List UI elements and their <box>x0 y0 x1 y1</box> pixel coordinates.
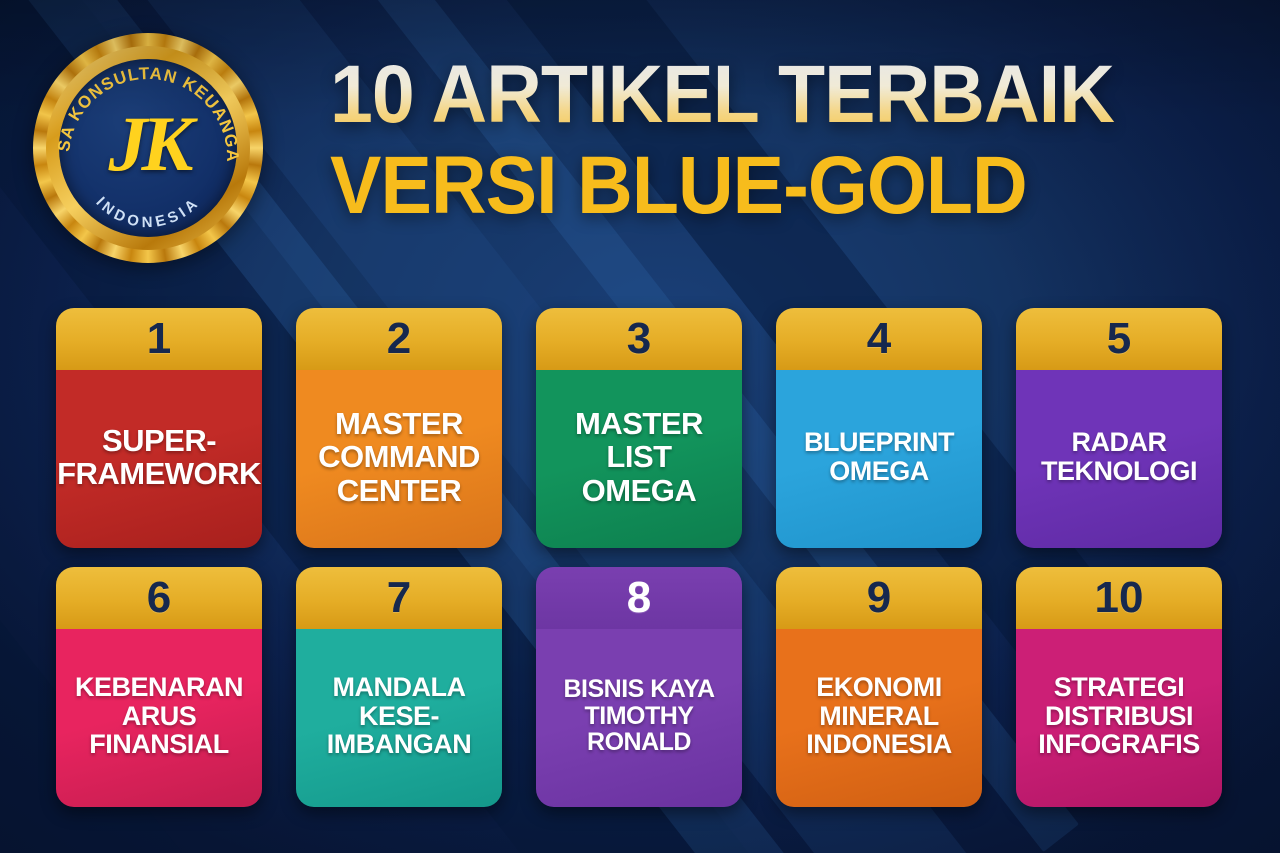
article-card-9[interactable]: 9EKONOMI MINERAL INDONESIA <box>776 567 982 807</box>
headline-line-2: VERSI BLUE-GOLD <box>330 147 1176 226</box>
card-title: EKONOMI MINERAL INDONESIA <box>776 629 982 807</box>
article-card-8[interactable]: 8BISNIS KAYA TIMOTHY RONALD <box>536 567 742 807</box>
article-card-2[interactable]: 2MASTER COMMAND CENTER <box>296 308 502 548</box>
card-title: STRATEGI DISTRIBUSI INFOGRAFIS <box>1016 629 1222 807</box>
card-rank-number: 7 <box>296 567 502 629</box>
card-rank-number: 6 <box>56 567 262 629</box>
seal-bottom-label: INDONESIA <box>92 194 203 232</box>
card-title: MASTER LIST OMEGA <box>536 370 742 548</box>
seal-monogram: JK <box>33 105 263 183</box>
article-card-10[interactable]: 10STRATEGI DISTRIBUSI INFOGRAFIS <box>1016 567 1222 807</box>
card-rank-number: 2 <box>296 308 502 370</box>
card-title: MANDALA KESE- IMBANGAN <box>296 629 502 807</box>
card-title: SUPER- FRAMEWORK <box>56 370 262 548</box>
headline-line-1: 10 ARTIKEL TERBAIK <box>330 56 1176 135</box>
article-card-3[interactable]: 3MASTER LIST OMEGA <box>536 308 742 548</box>
card-rank-number: 4 <box>776 308 982 370</box>
card-rank-number: 5 <box>1016 308 1222 370</box>
card-title: BLUEPRINT OMEGA <box>776 370 982 548</box>
article-card-5[interactable]: 5RADAR TEKNOLOGI <box>1016 308 1222 548</box>
article-card-7[interactable]: 7MANDALA KESE- IMBANGAN <box>296 567 502 807</box>
card-title: RADAR TEKNOLOGI <box>1016 370 1222 548</box>
card-rank-number: 3 <box>536 308 742 370</box>
card-title: KEBENARAN ARUS FINANSIAL <box>56 629 262 807</box>
card-rank-number: 9 <box>776 567 982 629</box>
headline-block: 10 ARTIKEL TERBAIK VERSI BLUE-GOLD <box>330 56 1230 225</box>
article-card-grid: 1SUPER- FRAMEWORK2MASTER COMMAND CENTER3… <box>56 308 1224 807</box>
article-card-4[interactable]: 4BLUEPRINT OMEGA <box>776 308 982 548</box>
card-title: MASTER COMMAND CENTER <box>296 370 502 548</box>
svg-text:INDONESIA: INDONESIA <box>92 194 203 232</box>
card-title: BISNIS KAYA TIMOTHY RONALD <box>536 629 742 807</box>
article-card-1[interactable]: 1SUPER- FRAMEWORK <box>56 308 262 548</box>
card-rank-number: 8 <box>536 567 742 629</box>
card-rank-number: 10 <box>1016 567 1222 629</box>
article-card-6[interactable]: 6KEBENARAN ARUS FINANSIAL <box>56 567 262 807</box>
poster-header: JASA KONSULTAN KEUANGAN INDONESIA JK 10 … <box>0 0 1280 300</box>
card-rank-number: 1 <box>56 308 262 370</box>
infographic-poster: JASA KONSULTAN KEUANGAN INDONESIA JK 10 … <box>0 0 1280 853</box>
company-seal-logo: JASA KONSULTAN KEUANGAN INDONESIA JK <box>33 33 263 263</box>
